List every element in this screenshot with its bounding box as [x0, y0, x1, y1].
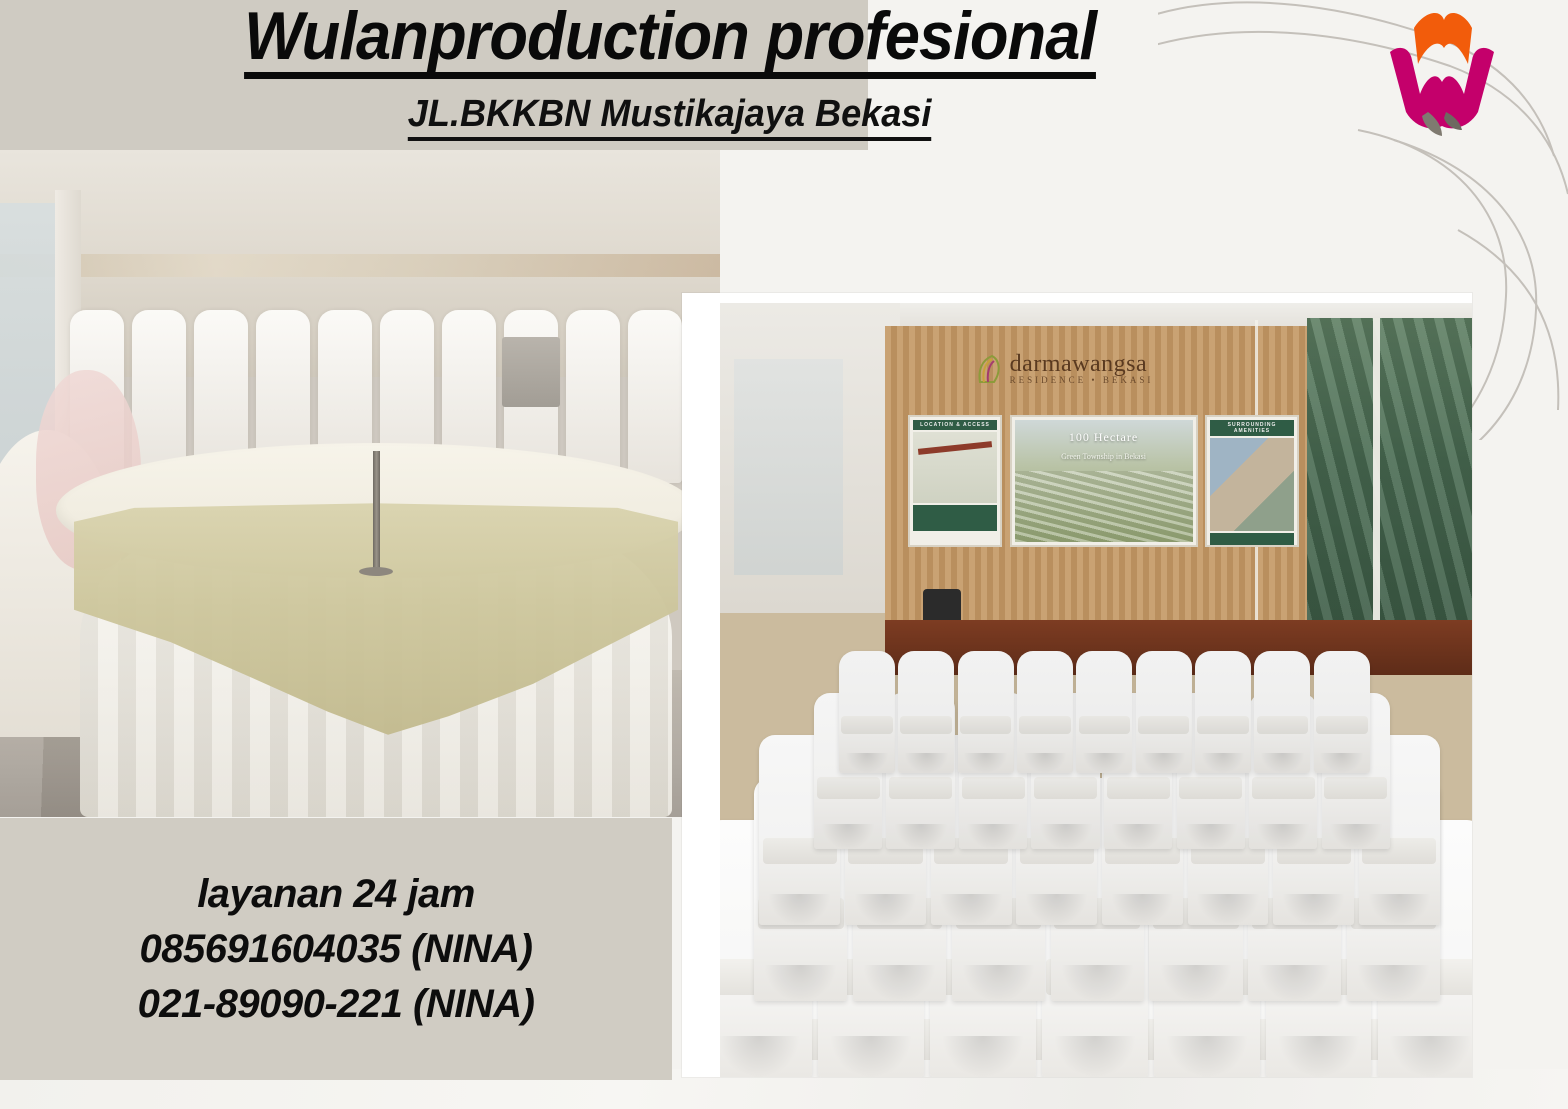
chair-seat — [962, 777, 1025, 799]
chair-seat — [1079, 716, 1131, 733]
banquet-round-table-photo — [0, 150, 720, 817]
chair — [958, 651, 1014, 773]
round-banquet-table — [56, 443, 696, 817]
contact-block: layanan 24 jam 085691604035 (NINA) 021-8… — [0, 818, 672, 1080]
chair-seat — [1197, 716, 1249, 733]
chair-seat — [1019, 716, 1071, 733]
poster-board-amenities: SURROUNDING AMENITIES — [1205, 415, 1299, 547]
chair — [1136, 651, 1192, 773]
poster-board-location: LOCATION & ACCESS — [908, 415, 1002, 547]
chair-seat — [960, 716, 1012, 733]
chair-seat — [1138, 716, 1190, 733]
chair-seat — [900, 716, 952, 733]
chair — [898, 651, 954, 773]
wulanproduction-w-logo — [1374, 8, 1504, 136]
chair-seat — [1316, 716, 1368, 733]
seminar-chairs-photo: darmawangsa RESIDENCE • BEKASI LOCATION … — [682, 293, 1472, 1077]
chair — [839, 651, 895, 773]
chair-rows — [720, 613, 1472, 985]
table-number-sign — [502, 337, 560, 407]
chair-seat — [1257, 716, 1309, 733]
chair-seat — [1179, 777, 1242, 799]
board-heading: SURROUNDING AMENITIES — [1210, 420, 1294, 436]
chair — [1017, 651, 1073, 773]
darmawangsa-sign: darmawangsa RESIDENCE • BEKASI — [976, 338, 1262, 400]
chair-seat — [817, 777, 880, 799]
chair-seat — [889, 777, 952, 799]
hero-line-2: Green Township in Bekasi — [1015, 452, 1193, 461]
chair — [1195, 651, 1251, 773]
phone-landline: 021-89090-221 (NINA) — [138, 982, 535, 1027]
service-hours: layanan 24 jam — [197, 872, 475, 917]
chair-seat — [841, 716, 893, 733]
chair-seat — [1252, 777, 1315, 799]
chair-seat — [1324, 777, 1387, 799]
darmawangsa-leaf-icon — [976, 354, 1002, 384]
page-subtitle: JL.BKKBN Mustikajaya Bekasi — [408, 93, 932, 141]
chair — [1254, 651, 1310, 773]
sign-tagline: RESIDENCE • BEKASI — [1010, 376, 1154, 385]
hero-line-1: 100 Hectare — [1015, 430, 1193, 445]
window-greenery — [1307, 318, 1472, 635]
header-text-block: Wulanproduction profesional JL.BKKBN Mus… — [0, 0, 1340, 141]
poster-board-hero: 100 Hectare Green Township in Bekasi — [1010, 415, 1198, 547]
page-title: Wulanproduction profesional — [244, 2, 1096, 79]
chair — [1314, 651, 1370, 773]
chair-seat — [1034, 777, 1097, 799]
chair-seat — [1107, 777, 1170, 799]
sign-brand: darmawangsa — [1010, 352, 1154, 376]
phone-mobile: 085691604035 (NINA) — [140, 927, 533, 972]
board-heading: LOCATION & ACCESS — [913, 420, 997, 430]
chair — [1076, 651, 1132, 773]
flyer-canvas: Wulanproduction profesional JL.BKKBN Mus… — [0, 0, 1568, 1109]
